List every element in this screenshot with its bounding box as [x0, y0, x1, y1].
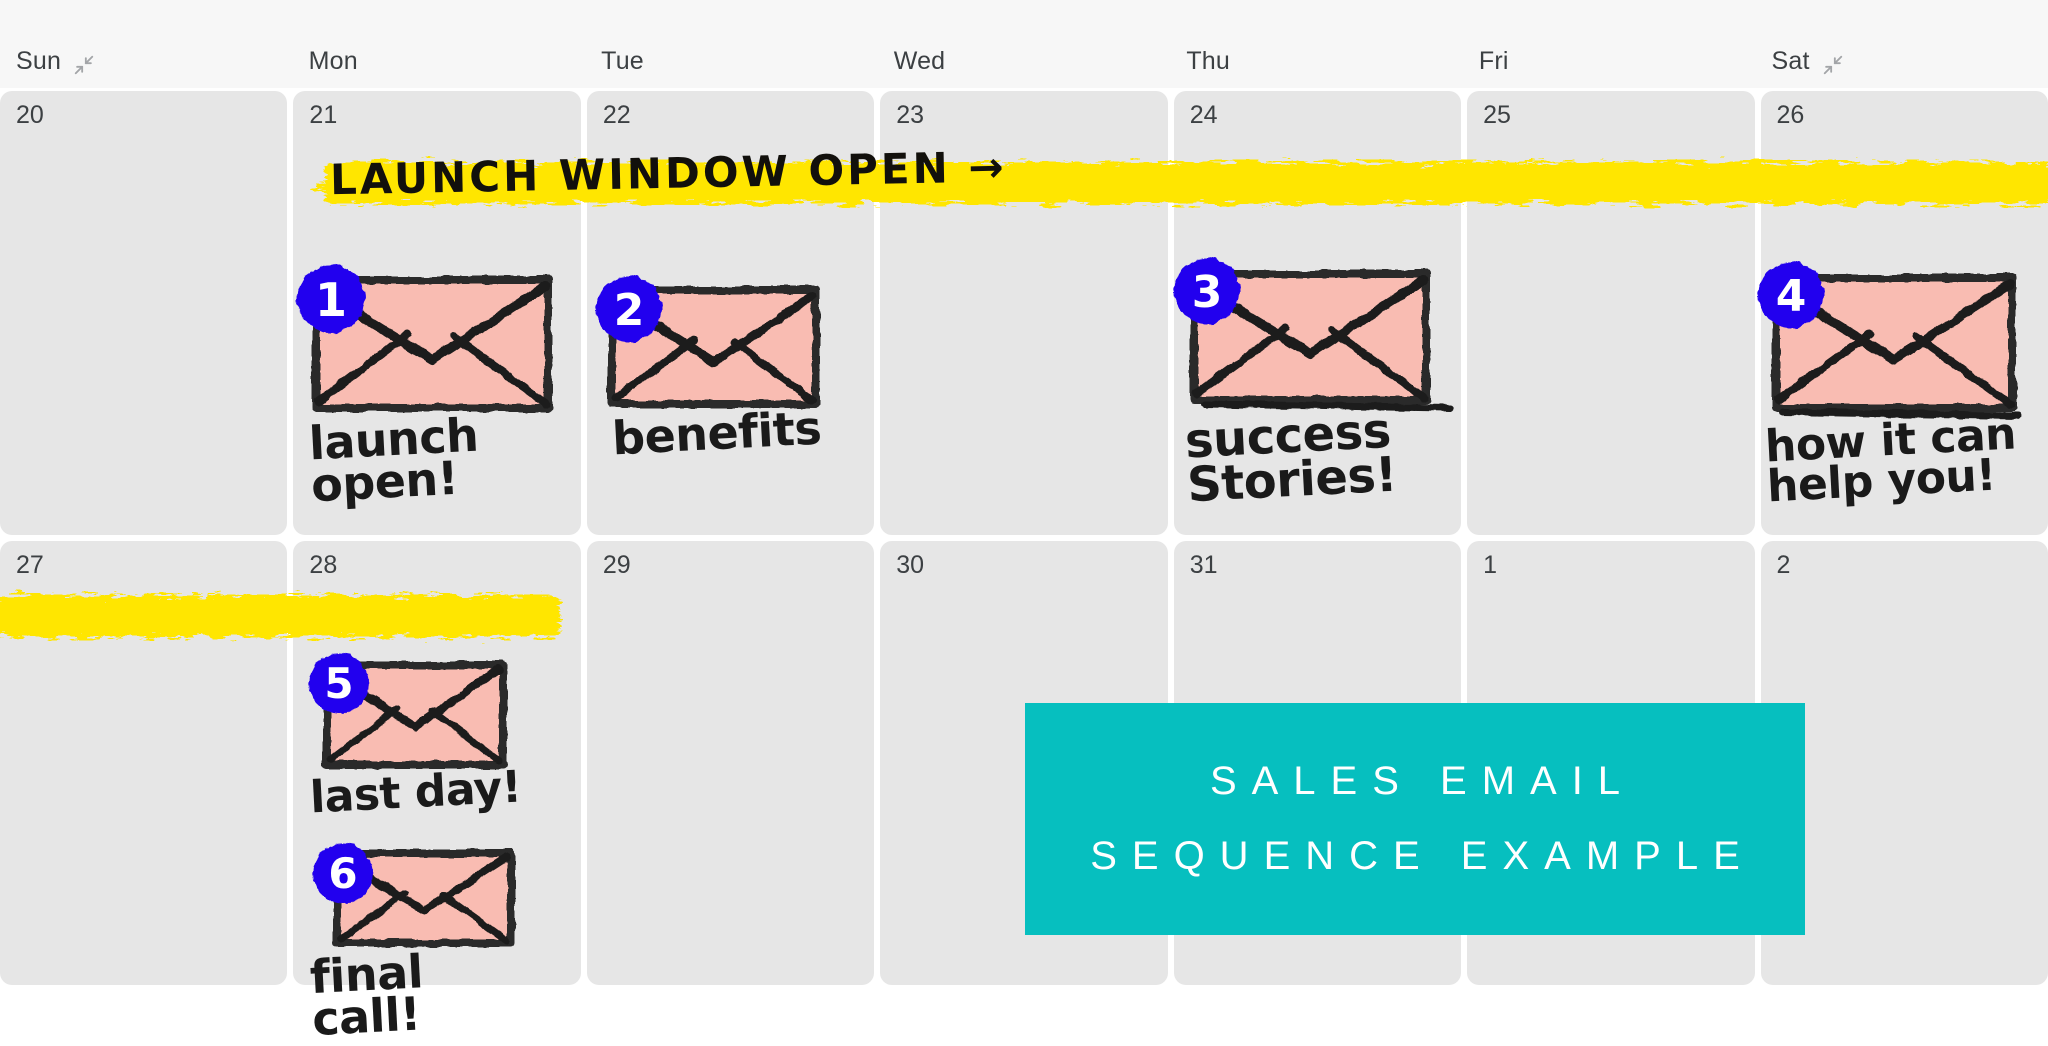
day-number: 28 — [309, 551, 337, 580]
day-cell-27[interactable]: 27 — [0, 541, 287, 985]
email-marker-5[interactable]: last day! 5 — [315, 655, 535, 845]
weekday-header-thu[interactable]: Thu — [1170, 0, 1463, 88]
svg-text:5: 5 — [324, 659, 353, 708]
email-marker-6[interactable]: final call! 6 — [325, 845, 545, 1035]
svg-text:2: 2 — [614, 285, 645, 336]
weekday-header-tue[interactable]: Tue — [585, 0, 878, 88]
weekday-label: Sat — [1771, 47, 1809, 76]
email-badge-5: 5 — [299, 643, 379, 723]
email-badge-4: 4 — [1748, 252, 1834, 338]
email-label-4: how it can help you! — [1764, 414, 2019, 508]
weekday-label: Wed — [894, 47, 946, 76]
callout-line-2: SEQUENCE EXAMPLE — [1075, 834, 1755, 879]
day-cell-23[interactable]: 23 — [880, 91, 1167, 535]
day-number: 27 — [16, 551, 44, 580]
email-label-3: success Stories! — [1184, 409, 1398, 508]
email-badge-2: 2 — [586, 266, 672, 352]
sales-email-sequence-callout: SALES EMAIL SEQUENCE EXAMPLE — [1025, 703, 1805, 935]
weekday-header-fri[interactable]: Fri — [1463, 0, 1756, 88]
svg-text:4: 4 — [1776, 271, 1807, 322]
day-cell-25[interactable]: 25 — [1467, 91, 1754, 535]
email-label-6: final call! — [309, 944, 547, 1041]
email-marker-1[interactable]: launch open! 1 — [300, 268, 570, 518]
weekday-label: Sun — [16, 47, 61, 76]
weekday-header-wed[interactable]: Wed — [878, 0, 1171, 88]
weekday-label: Tue — [601, 47, 644, 76]
email-badge-1: 1 — [288, 256, 374, 342]
day-number: 29 — [603, 551, 631, 580]
email-label-2: benefits — [611, 407, 822, 460]
email-label-1: launch open! — [308, 414, 482, 507]
day-number: 23 — [896, 101, 924, 130]
day-number: 31 — [1190, 551, 1218, 580]
collapse-arrows-icon[interactable] — [73, 54, 95, 76]
calendar-view: Sun Mon Tue Wed Thu Fri Sat 20 — [0, 0, 2048, 1040]
weekday-header-sat[interactable]: Sat — [1755, 0, 2048, 88]
callout-line-1: SALES EMAIL — [1195, 759, 1635, 804]
day-cell-29[interactable]: 29 — [587, 541, 874, 985]
email-label-5: last day! — [309, 767, 522, 818]
day-number: 30 — [896, 551, 924, 580]
day-cell-20[interactable]: 20 — [0, 91, 287, 535]
weekday-header-sun[interactable]: Sun — [0, 0, 293, 88]
email-marker-2[interactable]: benefits 2 — [600, 280, 840, 500]
collapse-arrows-icon[interactable] — [1822, 54, 1844, 76]
email-marker-3[interactable]: success Stories! 3 — [1178, 262, 1458, 522]
day-number: 2 — [1777, 551, 1791, 580]
day-number: 25 — [1483, 101, 1511, 130]
day-number: 22 — [603, 101, 631, 130]
weekday-label: Thu — [1186, 47, 1230, 76]
weekday-label: Mon — [309, 47, 358, 76]
svg-text:6: 6 — [328, 849, 357, 898]
email-badge-3: 3 — [1164, 248, 1250, 334]
email-marker-4[interactable]: how it can help you! 4 — [1760, 266, 2045, 526]
svg-text:1: 1 — [315, 273, 347, 327]
email-badge-6: 6 — [303, 833, 383, 913]
day-number: 24 — [1190, 101, 1218, 130]
svg-text:3: 3 — [1192, 267, 1223, 318]
weekday-header-mon[interactable]: Mon — [293, 0, 586, 88]
day-number: 20 — [16, 101, 44, 130]
day-number: 21 — [309, 101, 337, 130]
day-number: 26 — [1777, 101, 1805, 130]
weekday-label: Fri — [1479, 47, 1509, 76]
day-number: 1 — [1483, 551, 1497, 580]
weekday-header-row: Sun Mon Tue Wed Thu Fri Sat — [0, 0, 2048, 88]
